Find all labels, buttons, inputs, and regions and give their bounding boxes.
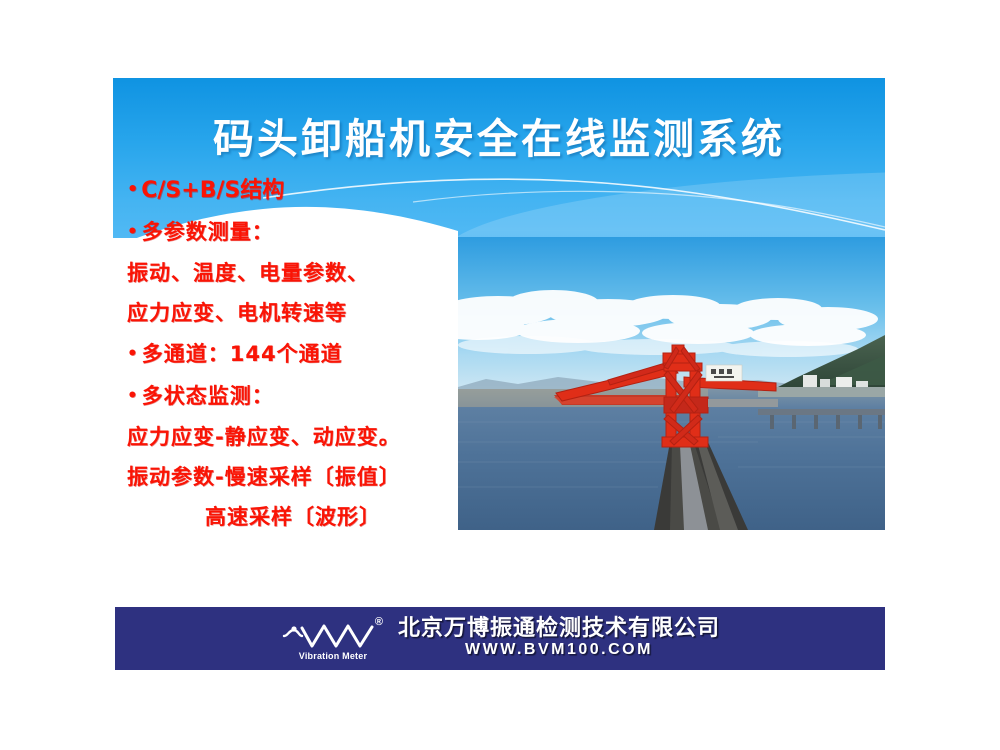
footer-text-block: 北京万博振通检测技术有限公司 WWW.BVM100.COM xyxy=(398,618,720,659)
bullet-item-5: 多状态监测： xyxy=(127,375,477,417)
company-name: 北京万博振通检测技术有限公司 xyxy=(398,618,720,641)
footer-bar: ® Vibration Meter 北京万博振通检测技术有限公司 WWW.BVM… xyxy=(115,607,885,670)
port-crane-photo xyxy=(458,237,885,530)
bullet-item-0: C/S+B/S结构 xyxy=(127,170,477,211)
footer-content: ® Vibration Meter 北京万博振通检测技术有限公司 WWW.BVM… xyxy=(280,616,720,662)
waveform-icon xyxy=(280,616,384,650)
photo-illustration xyxy=(458,237,885,530)
slide: 码头卸船机安全在线监测系统 C/S+B/S结构 多参数测量： 振动、温度、电量参… xyxy=(113,78,885,670)
slide-title: 码头卸船机安全在线监测系统 xyxy=(113,105,885,165)
registered-trademark-icon: ® xyxy=(375,616,383,628)
bullet-item-2: 振动、温度、电量参数、 xyxy=(127,253,477,293)
bullet-item-4: 多通道：144个通道 xyxy=(127,333,477,375)
company-logo: ® Vibration Meter xyxy=(280,616,384,662)
bullet-item-6: 应力应变-静应变、动应变。 xyxy=(127,417,477,457)
bullet-list: C/S+B/S结构 多参数测量： 振动、温度、电量参数、 应力应变、电机转速等 … xyxy=(127,170,477,537)
company-url: WWW.BVM100.COM xyxy=(398,642,720,659)
bullet-item-3: 应力应变、电机转速等 xyxy=(127,293,477,333)
logo-caption: Vibration Meter xyxy=(286,651,380,661)
slide-canvas: 码头卸船机安全在线监测系统 C/S+B/S结构 多参数测量： 振动、温度、电量参… xyxy=(0,0,1000,750)
bullet-item-7: 振动参数-慢速采样〔振值〕 xyxy=(127,457,477,497)
bullet-item-8: 高速采样〔波形〕 xyxy=(127,497,477,537)
bullet-item-1: 多参数测量： xyxy=(127,211,477,253)
